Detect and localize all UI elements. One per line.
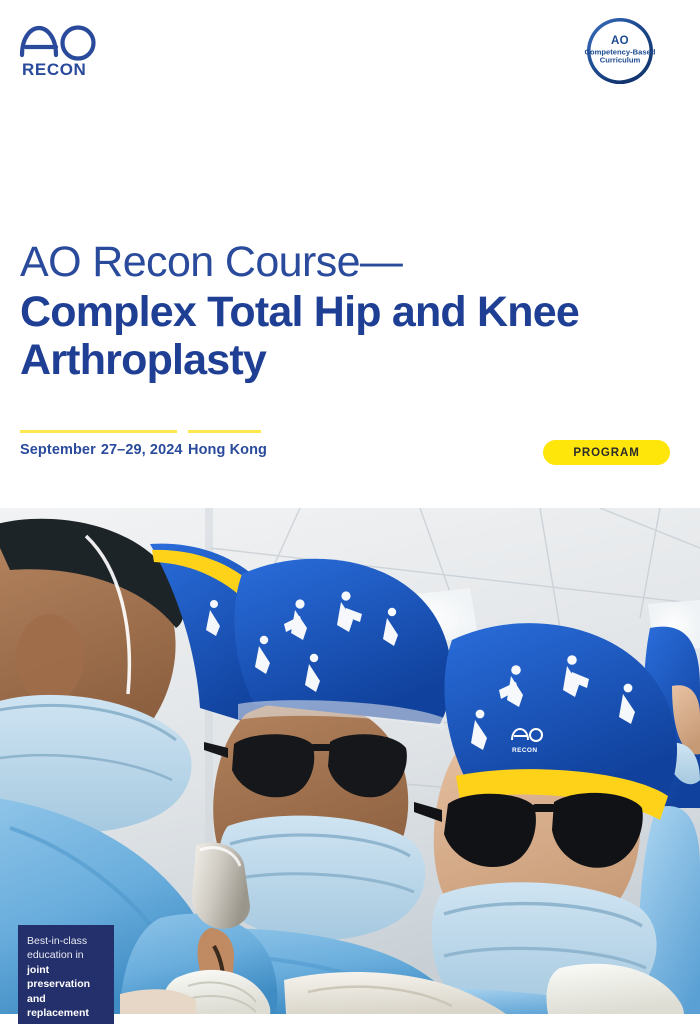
page-header: RECON <box>0 0 700 110</box>
caption-box: Best-in-class education in joint preserv… <box>18 925 114 1024</box>
svg-text:RECON: RECON <box>22 60 86 78</box>
date-month: September <box>20 442 96 458</box>
course-dates-text: September27–29, 2024 <box>20 442 183 458</box>
program-button[interactable]: PROGRAM <box>543 440 670 465</box>
accent-bar-dates <box>20 430 177 433</box>
svg-text:RECON: RECON <box>512 747 537 754</box>
accent-bar-location <box>188 430 261 433</box>
course-location: Hong Kong <box>188 430 267 458</box>
svg-text:AO: AO <box>611 35 629 47</box>
course-location-text: Hong Kong <box>188 442 267 458</box>
course-flyer-page: RECON <box>0 0 700 1024</box>
caption-bold-line-2: and replacement <box>27 993 105 1021</box>
caption-light-line-2: education in <box>27 949 105 963</box>
ao-recon-logo: RECON <box>18 22 110 78</box>
date-days: 27–29, 2024 <box>101 442 183 458</box>
page-title: AO Recon Course— Complex Total Hip and K… <box>20 240 660 384</box>
caption-bold-line-1: joint preservation <box>27 964 105 992</box>
caption-light-line-1: Best-in-class <box>27 935 105 949</box>
title-line-2: Complex Total Hip and Knee Arthroplasty <box>20 288 660 384</box>
title-line-1: AO Recon Course— <box>20 240 660 286</box>
course-dates: September27–29, 2024 <box>20 430 183 458</box>
svg-text:Curriculum: Curriculum <box>600 56 641 65</box>
ao-competency-based-curriculum-seal: AO Competency-Based Curriculum <box>578 14 662 88</box>
